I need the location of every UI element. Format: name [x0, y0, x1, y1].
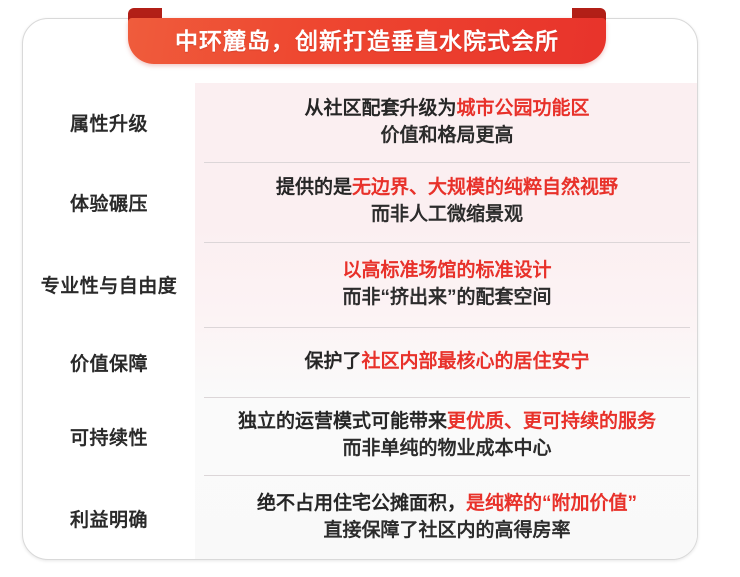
plain-text: 而非人工微缩景观: [371, 204, 523, 225]
row-label-4: 可持续性: [23, 397, 195, 475]
highlight-text: 城市公园功能区: [457, 98, 590, 119]
highlight-text: 无边界、大规模的纯粹自然视野: [352, 177, 618, 198]
content-line: 提供的是无边界、大规模的纯粹自然视野: [276, 175, 618, 202]
row-label-2: 专业性与自由度: [23, 242, 195, 327]
comparison-table: 属性升级 体验碾压 专业性与自由度 价值保障 可持续性 利益明确 从社区配套升级…: [23, 83, 698, 560]
plain-text: 提供的是: [276, 177, 352, 198]
row-label-3: 价值保障: [23, 327, 195, 397]
page-title: 中环麓岛，创新打造垂直水院式会所: [175, 30, 559, 53]
content-column: 从社区配套升级为城市公园功能区价值和格局更高 提供的是无边界、大规模的纯粹自然视…: [195, 83, 698, 560]
row-content-0: 从社区配套升级为城市公园功能区价值和格局更高: [195, 83, 698, 162]
content-line: 从社区配套升级为城市公园功能区: [304, 96, 589, 123]
content-line: 独立的运营模式可能带来更优质、更可持续的服务: [238, 409, 656, 436]
content-line: 而非“挤出来”的配套空间: [342, 285, 551, 312]
highlight-text: 社区内部最核心的居住安宁: [362, 351, 590, 372]
plain-text: 而非单纯的物业成本中心: [342, 438, 551, 459]
label-column: 属性升级 体验碾压 专业性与自由度 价值保障 可持续性 利益明确: [23, 83, 195, 560]
content-line: 以高标准场馆的标准设计: [342, 258, 551, 285]
row-content-5: 绝不占用住宅公摊面积，是纯粹的“附加价值”直接保障了社区内的高得房率: [195, 475, 698, 560]
row-content-1: 提供的是无边界、大规模的纯粹自然视野而非人工微缩景观: [195, 162, 698, 242]
title-ribbon: 中环麓岛，创新打造垂直水院式会所: [128, 8, 606, 64]
highlight-text: 以高标准场馆的标准设计: [342, 260, 551, 281]
plain-text: 从社区配套升级为: [304, 98, 456, 119]
poster-root: 属性升级 体验碾压 专业性与自由度 价值保障 可持续性 利益明确 从社区配套升级…: [0, 0, 740, 577]
content-card: 属性升级 体验碾压 专业性与自由度 价值保障 可持续性 利益明确 从社区配套升级…: [22, 18, 698, 560]
row-content-4: 独立的运营模式可能带来更优质、更可持续的服务而非单纯的物业成本中心: [195, 397, 698, 475]
plain-text: 而非“挤出来”的配套空间: [342, 287, 551, 308]
content-line: 绝不占用住宅公摊面积，是纯粹的“附加价值”: [257, 491, 637, 518]
plain-text: 保护了: [304, 351, 361, 372]
row-label-5: 利益明确: [23, 475, 195, 560]
row-content-2: 以高标准场馆的标准设计而非“挤出来”的配套空间: [195, 242, 698, 327]
content-line: 而非单纯的物业成本中心: [342, 436, 551, 463]
plain-text: 直接保障了社区内的高得房率: [323, 520, 570, 541]
row-content-3: 保护了社区内部最核心的居住安宁: [195, 327, 698, 397]
ribbon-body: 中环麓岛，创新打造垂直水院式会所: [128, 18, 606, 64]
row-label-0: 属性升级: [23, 83, 195, 162]
content-line: 直接保障了社区内的高得房率: [323, 518, 570, 545]
plain-text: 绝不占用住宅公摊面积，: [257, 493, 466, 514]
row-label-1: 体验碾压: [23, 162, 195, 242]
highlight-text: 是纯粹的“附加价值”: [466, 493, 637, 514]
content-line: 保护了社区内部最核心的居住安宁: [304, 349, 589, 376]
content-line: 而非人工微缩景观: [371, 202, 523, 229]
highlight-text: 更优质、更可持续的服务: [447, 411, 656, 432]
plain-text: 价值和格局更高: [380, 125, 513, 146]
content-line: 价值和格局更高: [380, 123, 513, 150]
plain-text: 独立的运营模式可能带来: [238, 411, 447, 432]
